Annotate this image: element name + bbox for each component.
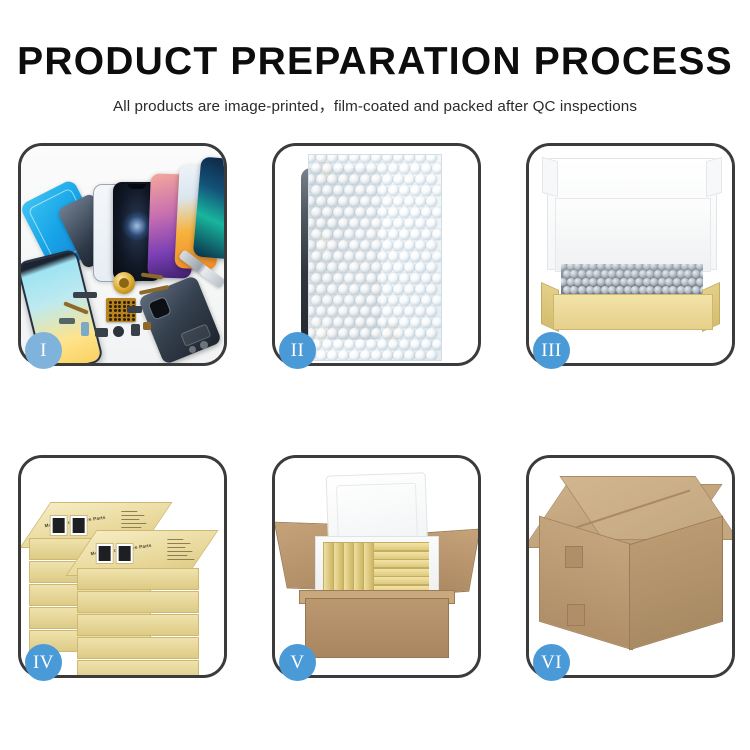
box-window — [116, 543, 134, 564]
screw-icon — [189, 346, 196, 353]
box-front-panel — [553, 294, 713, 330]
bubble-wrap-bag-icon — [308, 154, 442, 361]
vibration-motor-icon — [113, 272, 135, 294]
header: PRODUCT PREPARATION PROCESS All products… — [0, 0, 750, 116]
small-part-icon — [59, 318, 75, 324]
box-window — [70, 515, 88, 536]
step-image-2 — [275, 146, 478, 363]
small-part-icon — [131, 324, 140, 336]
step-badge-1: I — [25, 332, 62, 369]
step-badge-4: IV — [25, 644, 62, 681]
bubble-wrap-icon — [561, 264, 703, 296]
small-part-icon — [127, 306, 142, 313]
page-subtitle: All products are image-printed，film-coat… — [0, 94, 750, 116]
process-step-grid: I II — [18, 143, 732, 678]
page-title: PRODUCT PREPARATION PROCESS — [0, 42, 750, 81]
small-part-icon — [73, 292, 97, 298]
inner-boxes-icon — [323, 542, 429, 594]
step-panel-1[interactable]: I — [18, 143, 227, 366]
step-badge-2: II — [279, 332, 316, 369]
step-panel-3[interactable]: III — [526, 143, 735, 366]
box-text-lines — [167, 539, 195, 563]
box-stack-icon: Mobile Phone Spare PartsMobile Phone Spa… — [25, 472, 224, 664]
carton-front-panel — [305, 598, 449, 658]
step-image-4: Mobile Phone Spare PartsMobile Phone Spa… — [21, 458, 224, 675]
step-image-6 — [529, 458, 732, 675]
box-window — [50, 515, 68, 536]
step-image-5 — [275, 458, 478, 675]
infographic-page: PRODUCT PREPARATION PROCESS All products… — [0, 0, 750, 750]
small-part-icon — [81, 322, 89, 336]
step-badge-6: VI — [533, 644, 570, 681]
box-edge — [77, 637, 199, 659]
screw-icon — [200, 341, 208, 349]
box-edge — [77, 591, 199, 613]
step-image-3 — [529, 146, 732, 363]
step-badge-5: V — [279, 644, 316, 681]
bubble-pattern — [309, 155, 441, 360]
step-panel-2[interactable]: II — [272, 143, 481, 366]
small-part-icon — [113, 326, 124, 337]
box-window — [96, 543, 114, 564]
small-part-icon — [143, 322, 151, 330]
step-panel-6[interactable]: VI — [526, 455, 735, 678]
tape-icon — [567, 604, 585, 626]
box-edge — [77, 660, 199, 675]
box-edge — [77, 568, 199, 590]
step-panel-5[interactable]: V — [272, 455, 481, 678]
small-part-icon — [95, 328, 108, 337]
tape-icon — [565, 546, 583, 568]
foam-sheet-icon — [555, 198, 711, 272]
step-badge-3: III — [533, 332, 570, 369]
step-panel-4[interactable]: Mobile Phone Spare PartsMobile Phone Spa… — [18, 455, 227, 678]
box-edge — [77, 614, 199, 636]
step-image-1 — [21, 146, 224, 363]
